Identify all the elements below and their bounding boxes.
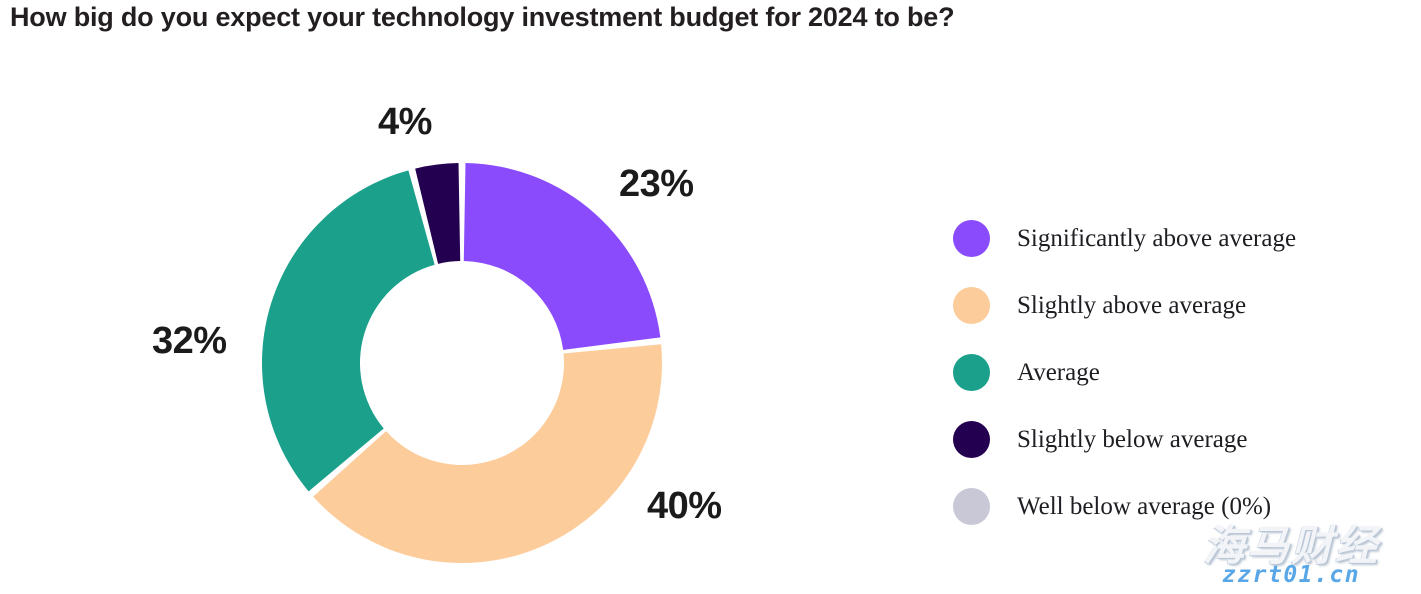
legend-item-label: Slightly below average bbox=[1017, 427, 1248, 452]
donut-chart-svg bbox=[262, 163, 662, 563]
donut-slice-group bbox=[262, 163, 662, 563]
chart-legend: Significantly above averageSlightly abov… bbox=[953, 205, 1393, 540]
legend-item[interactable]: Significantly above average bbox=[953, 205, 1393, 272]
legend-swatch-icon bbox=[953, 287, 990, 324]
legend-item[interactable]: Well below average (0%) bbox=[953, 473, 1393, 540]
legend-item-label: Slightly above average bbox=[1017, 293, 1246, 318]
slice-percent-label-slightly-above-average: 40% bbox=[647, 485, 722, 528]
legend-swatch-icon bbox=[953, 220, 990, 257]
slice-percent-label-average: 32% bbox=[152, 320, 227, 363]
donut-slice[interactable] bbox=[313, 344, 662, 563]
legend-item[interactable]: Slightly below average bbox=[953, 406, 1393, 473]
slice-percent-label-significantly-above-average: 23% bbox=[619, 163, 694, 206]
legend-item-label: Average bbox=[1017, 360, 1100, 385]
legend-item[interactable]: Slightly above average bbox=[953, 272, 1393, 339]
donut-chart bbox=[262, 163, 662, 563]
slice-percent-label-slightly-below-average: 4% bbox=[378, 101, 432, 144]
legend-item[interactable]: Average bbox=[953, 339, 1393, 406]
donut-slice[interactable] bbox=[262, 170, 435, 491]
legend-swatch-icon bbox=[953, 421, 990, 458]
legend-item-label: Significantly above average bbox=[1017, 226, 1296, 251]
watermark-url-text: zzrt01.cn bbox=[1168, 562, 1414, 588]
legend-item-label: Well below average (0%) bbox=[1017, 494, 1271, 519]
page-title: How big do you expect your technology in… bbox=[10, 2, 954, 33]
legend-swatch-icon bbox=[953, 354, 990, 391]
legend-swatch-icon bbox=[953, 488, 990, 525]
